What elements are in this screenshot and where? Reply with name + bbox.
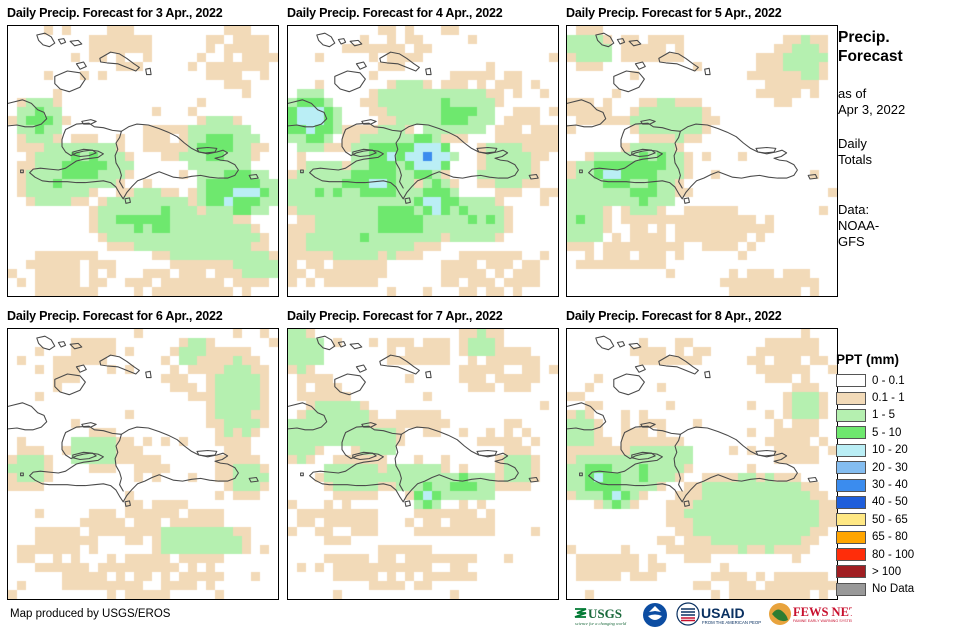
map-panel-5-apr[interactable] <box>566 25 838 297</box>
usgs-logo: USGS science for a changing world <box>573 601 635 629</box>
svg-text:FEWS NET: FEWS NET <box>793 605 852 619</box>
legend-swatch <box>836 531 866 544</box>
legend-label: 50 - 65 <box>872 514 908 526</box>
legend-swatch <box>836 409 866 422</box>
coastline-overlay <box>567 26 837 296</box>
map-credit: Map produced by USGS/EROS <box>10 608 170 620</box>
legend-row: > 100 <box>836 563 970 580</box>
data-source-line1: NOAA- <box>838 218 968 234</box>
legend-row: 30 - 40 <box>836 476 970 493</box>
panel-title-6: Daily Precip. Forecast for 8 Apr., 2022 <box>566 309 781 323</box>
map-panel-8-apr[interactable] <box>566 328 838 600</box>
legend-swatch <box>836 479 866 492</box>
map-panel-6-apr[interactable] <box>7 328 279 600</box>
legend-label: > 100 <box>872 566 901 578</box>
agency-logos: USGS science for a changing world USAID … <box>573 601 852 629</box>
legend-swatch <box>836 496 866 509</box>
legend-swatch <box>836 444 866 457</box>
fews-net-logo: FEWS NET FAMINE EARLY WARNING SYSTEMS NE… <box>768 601 852 629</box>
legend-label: 0.1 - 1 <box>872 392 905 404</box>
svg-text:science for a changing world: science for a changing world <box>575 621 627 626</box>
legend-row: 65 - 80 <box>836 529 970 546</box>
map-panel-4-apr[interactable] <box>287 25 559 297</box>
map-panel-3-apr[interactable] <box>7 25 279 297</box>
legend-label: No Data <box>872 583 914 595</box>
legend-swatch <box>836 426 866 439</box>
coastline-overlay <box>8 329 278 599</box>
legend-swatch <box>836 392 866 405</box>
legend-row: 40 - 50 <box>836 494 970 511</box>
legend-row: 0 - 0.1 <box>836 372 970 389</box>
legend-row: 10 - 20 <box>836 442 970 459</box>
panel-title-3: Daily Precip. Forecast for 5 Apr., 2022 <box>566 6 781 20</box>
legend-row: 5 - 10 <box>836 424 970 441</box>
svg-text:FAMINE EARLY WARNING SYSTEMS N: FAMINE EARLY WARNING SYSTEMS NETWORK <box>793 619 852 623</box>
legend-swatch <box>836 548 866 561</box>
panel-title-5: Daily Precip. Forecast for 7 Apr., 2022 <box>287 309 502 323</box>
legend-label: 1 - 5 <box>872 409 895 421</box>
sidebar: Precip. Forecast as of Apr 3, 2022 Daily… <box>838 28 968 250</box>
legend-swatch <box>836 513 866 526</box>
sidebar-title-line1: Precip. <box>838 28 968 47</box>
panel-title-4: Daily Precip. Forecast for 6 Apr., 2022 <box>7 309 222 323</box>
legend-row: 0.1 - 1 <box>836 389 970 406</box>
legend-label: 5 - 10 <box>872 427 901 439</box>
svg-text:FROM THE AMERICAN PEOPLE: FROM THE AMERICAN PEOPLE <box>702 620 761 625</box>
noaa-logo <box>642 601 668 629</box>
legend-row: 20 - 30 <box>836 459 970 476</box>
data-source-line2: GFS <box>838 234 968 250</box>
totals-line2: Totals <box>838 152 968 168</box>
legend-label: 20 - 30 <box>872 462 908 474</box>
coastline-overlay <box>288 329 558 599</box>
legend-label: 10 - 20 <box>872 444 908 456</box>
legend-row: 80 - 100 <box>836 546 970 563</box>
svg-text:USGS: USGS <box>588 606 622 621</box>
coastline-overlay <box>8 26 278 296</box>
legend-swatch <box>836 565 866 578</box>
svg-text:USAID: USAID <box>701 605 745 621</box>
coastline-overlay <box>288 26 558 296</box>
sidebar-title-line2: Forecast <box>838 47 968 66</box>
as-of-label: as of <box>838 86 968 102</box>
legend-label: 30 - 40 <box>872 479 908 491</box>
data-label: Data: <box>838 202 968 218</box>
legend-title: PPT (mm) <box>836 352 970 367</box>
legend-row: 1 - 5 <box>836 407 970 424</box>
usaid-logo: USAID FROM THE AMERICAN PEOPLE <box>675 601 761 629</box>
legend-label: 80 - 100 <box>872 549 914 561</box>
map-panel-7-apr[interactable] <box>287 328 559 600</box>
legend-label: 65 - 80 <box>872 531 908 543</box>
coastline-overlay <box>567 329 837 599</box>
legend-label: 40 - 50 <box>872 496 908 508</box>
legend-swatch <box>836 461 866 474</box>
legend-row: 50 - 65 <box>836 511 970 528</box>
as-of-date: Apr 3, 2022 <box>838 102 968 118</box>
panel-title-2: Daily Precip. Forecast for 4 Apr., 2022 <box>287 6 502 20</box>
legend-swatch <box>836 374 866 387</box>
legend: PPT (mm) 0 - 0.10.1 - 11 - 55 - 1010 - 2… <box>836 352 970 598</box>
legend-swatch <box>836 583 866 596</box>
panel-title-1: Daily Precip. Forecast for 3 Apr., 2022 <box>7 6 222 20</box>
legend-row: No Data <box>836 581 970 598</box>
legend-label: 0 - 0.1 <box>872 375 905 387</box>
totals-line1: Daily <box>838 136 968 152</box>
